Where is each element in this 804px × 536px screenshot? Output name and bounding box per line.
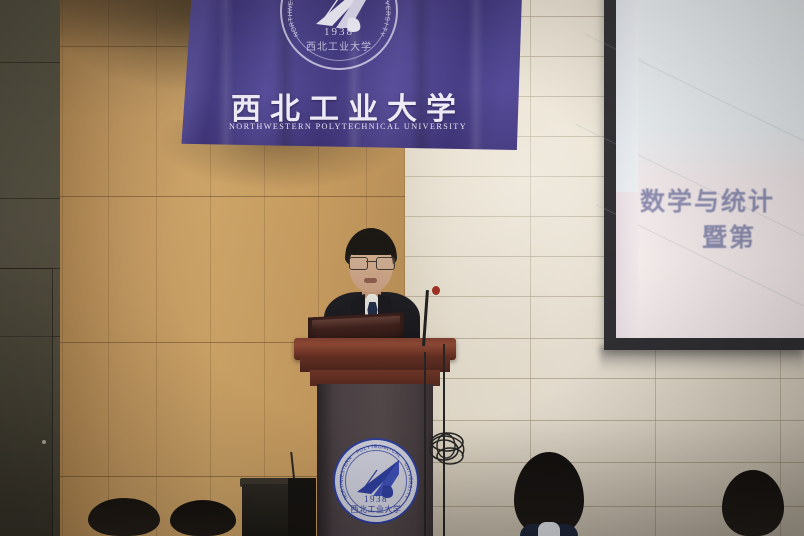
wall-door-outline xyxy=(0,268,53,536)
slide-title-line-1: 数学与统计 xyxy=(640,182,804,218)
audience-head-left-near xyxy=(88,498,160,536)
door-knob xyxy=(42,440,46,444)
microphone-windscreen-icon xyxy=(432,286,440,295)
projection-screen-surface[interactable] xyxy=(616,0,804,338)
banner-english-title: NORTHWESTERN POLYTECHNICAL UNIVERSITY xyxy=(198,122,498,131)
coiled-cable-bundle xyxy=(424,426,470,470)
slide-left-band-lower xyxy=(616,192,638,338)
equipment-case-side xyxy=(288,478,316,536)
presenter-mouth xyxy=(364,278,377,283)
podium-seal-year: 1938 xyxy=(333,494,419,504)
podium-left-shadow xyxy=(317,384,333,536)
slide-title-line-2: 暨第 xyxy=(702,218,804,254)
slide-left-band-upper xyxy=(616,0,638,192)
audience-shirt-collar xyxy=(538,522,560,536)
banner-seal-chinese: 西北工业大学 xyxy=(280,38,398,53)
podium-top-surface xyxy=(294,338,456,360)
podium-seal-chinese: 西北工业大学 xyxy=(333,504,419,515)
banner-seal-emblem: NORTHWESTERNPOLYTECHNICALUNIVERSITY 1938… xyxy=(280,0,398,70)
banner-seal-year: 1938 xyxy=(280,26,398,38)
podium-seal-emblem: NORTHWESTERNPOLYTECHNICALUNIVERSITY 1938… xyxy=(333,438,419,524)
left-dark-wall-panel xyxy=(0,0,62,536)
audience-head-left-far xyxy=(170,500,236,536)
presentation-scene: 数学与统计 暨第 NORTHWESTERNPOLYTECHNICALUNIVER… xyxy=(0,0,804,536)
eyeglasses-icon xyxy=(349,257,393,268)
